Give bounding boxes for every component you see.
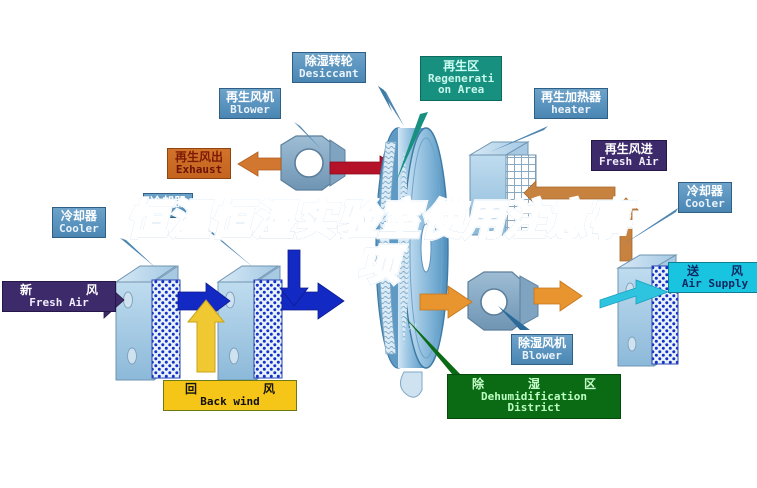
cooler-left-unit	[116, 266, 180, 380]
label-fresh-air-in-cn: 新 风	[10, 284, 108, 297]
label-air-supply-cn: 送 风	[677, 265, 753, 278]
dehumidification-blower-unit	[468, 272, 538, 330]
label-cooler-left-cn: 冷却器	[59, 210, 99, 223]
label-regeneration-heater-en: heater	[541, 104, 601, 116]
label-regeneration-area[interactable]: 再生区 Regenerati on Area	[420, 56, 502, 101]
label-regeneration-heater[interactable]: 再生加热器 heater	[534, 88, 608, 119]
cooler-mid-unit	[218, 266, 282, 380]
label-fresh-air-in[interactable]: 新 风 Fresh Air	[2, 281, 116, 312]
label-regeneration-area-cn: 再生区	[428, 60, 494, 73]
rotor-foot	[400, 372, 422, 397]
label-dehumidification-district-cn: 除 湿 区	[456, 378, 612, 391]
label-exhaust-cn: 再生风出	[175, 151, 223, 164]
label-cooler-right-en: Cooler	[685, 198, 725, 210]
label-desiccant-wheel[interactable]: 除湿转轮 Desiccant	[292, 52, 366, 83]
label-regeneration-heater-cn: 再生加热器	[541, 91, 601, 104]
label-regeneration-blower[interactable]: 再生风机 Blower	[219, 88, 281, 119]
airflow-diagram-svg: xt	[0, 0, 757, 488]
label-exhaust[interactable]: 再生风出 Exhaust	[167, 148, 231, 179]
label-dehumidification-blower-en: Blower	[518, 350, 566, 362]
label-desiccant-wheel-cn: 除湿转轮	[299, 55, 359, 68]
dehum-arrow-2	[534, 281, 582, 311]
label-regeneration-area-en2: on Area	[428, 84, 494, 96]
label-cooler-right-cn: 冷却器	[685, 185, 725, 198]
label-back-wind[interactable]: 回 风 Back wind	[163, 380, 297, 411]
label-cooler-mid-cn: 冷却器	[150, 196, 186, 209]
label-regeneration-blower-en: Blower	[226, 104, 274, 116]
label-desiccant-wheel-en: Desiccant	[299, 68, 359, 80]
label-regeneration-fresh-air-cn: 再生风进	[599, 143, 659, 156]
rotor-watermark: xt	[408, 322, 418, 333]
label-fresh-air-in-en: Fresh Air	[10, 297, 108, 309]
label-back-wind-cn: 回 风	[171, 383, 289, 396]
label-air-supply-en: Air Supply	[677, 278, 753, 290]
exhaust-arrow	[238, 152, 281, 176]
label-air-supply[interactable]: 送 风 Air Supply	[668, 262, 757, 293]
label-cooler-mid[interactable]: 冷却器	[143, 193, 193, 218]
label-regeneration-fresh-air-en: Fresh Air	[599, 156, 659, 168]
label-regeneration-blower-cn: 再生风机	[226, 91, 274, 104]
diagram-canvas: xt	[0, 0, 757, 488]
label-back-wind-en: Back wind	[171, 396, 289, 408]
regeneration-heater-unit	[470, 142, 536, 235]
label-cooler-right[interactable]: 冷却器 Cooler	[678, 182, 732, 213]
label-dehumidification-district[interactable]: 除 湿 区 Dehumidification District	[447, 374, 621, 419]
label-cooler-left[interactable]: 冷却器 Cooler	[52, 207, 106, 238]
label-dehumidification-blower-cn: 除湿风机	[518, 337, 566, 350]
label-exhaust-en: Exhaust	[175, 164, 223, 176]
label-dehumidification-blower[interactable]: 除湿风机 Blower	[511, 334, 573, 365]
label-regeneration-fresh-air[interactable]: 再生风进 Fresh Air	[591, 140, 667, 171]
regeneration-inlet-arrow	[524, 181, 638, 261]
label-dehumidification-district-en2: District	[456, 402, 612, 414]
label-cooler-left-en: Cooler	[59, 223, 99, 235]
